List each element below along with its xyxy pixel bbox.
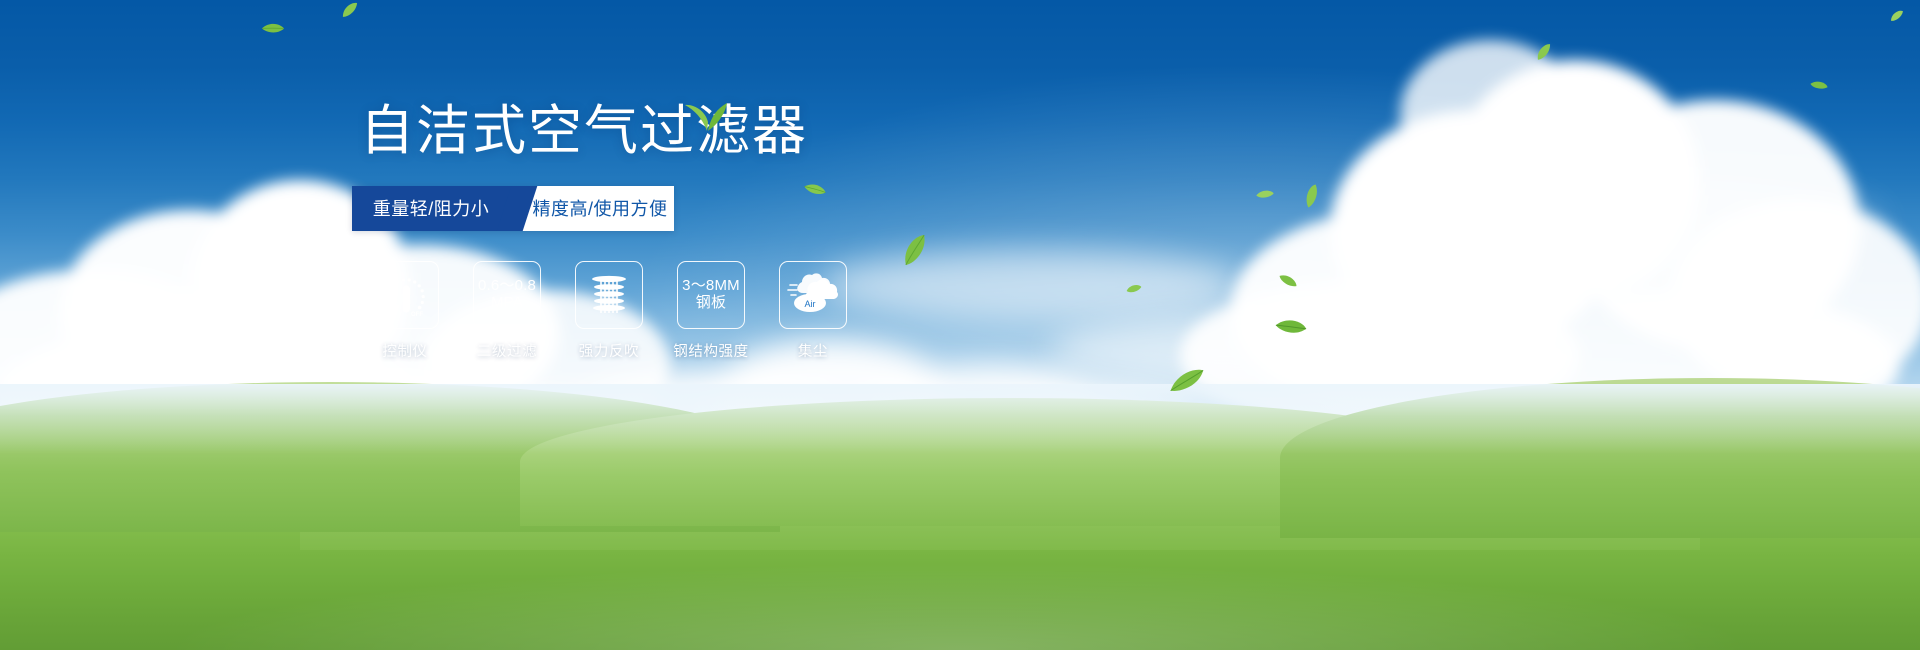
- grass-shading: [0, 530, 1920, 650]
- grass-field: [0, 430, 1920, 650]
- tab-precision[interactable]: 精度高/使用方便: [512, 186, 674, 231]
- feature-item[interactable]: 0.6～0.8 MPA 二级过滤: [456, 261, 558, 361]
- gauge-off-label: OFF: [411, 312, 423, 318]
- feature-item[interactable]: 强力反吹: [558, 261, 660, 361]
- steel-material: 钢板: [682, 295, 740, 312]
- gauge-icon: NO OFF: [377, 269, 433, 321]
- feature-label: 强力反吹: [579, 340, 639, 361]
- feature-icon-box: [575, 261, 643, 329]
- feature-icon-box: 0.6～0.8 MPA: [473, 261, 541, 329]
- horizon-haze: [0, 384, 1920, 454]
- coil-stack-icon: [584, 270, 634, 320]
- feature-label: 二级过滤: [477, 340, 537, 361]
- tab-lightweight[interactable]: 重量轻/阻力小: [352, 186, 512, 231]
- feature-item[interactable]: 3～8MM 钢板 钢结构强度: [660, 261, 762, 361]
- feature-icon-box: 3～8MM 钢板: [677, 261, 745, 329]
- feature-label: 控制仪: [382, 340, 427, 361]
- cloud-bank-right: [1150, 40, 1910, 430]
- page-title-text: 自洁式空气过滤器: [360, 101, 808, 161]
- air-cloud-icon: Air: [786, 272, 840, 318]
- feature-label: 钢结构强度: [673, 340, 749, 361]
- feature-icon-box: NO OFF: [371, 261, 439, 329]
- tab-precision-label: 精度高/使用方便: [532, 195, 667, 221]
- feature-tabs: 重量轻/阻力小 精度高/使用方便: [352, 186, 674, 231]
- steel-plate-text-icon: 3～8MM 钢板: [682, 278, 740, 312]
- title-leaf-icon: [683, 83, 729, 147]
- pressure-unit: MPA: [478, 295, 536, 312]
- gauge-no-label: NO: [383, 295, 393, 302]
- feature-item[interactable]: Air 集尘: [762, 261, 864, 361]
- feature-icon-box: Air: [779, 261, 847, 329]
- pressure-value: 0.6～0.8: [478, 278, 536, 295]
- pressure-text-icon: 0.6～0.8 MPA: [478, 278, 536, 312]
- banner-content: 自洁式空气过滤器 重量轻/阻力小 精度高/使用方便: [350, 100, 910, 361]
- leaf-icon: [1125, 283, 1142, 295]
- steel-thickness: 3～8MM: [682, 278, 740, 295]
- page-title: 自洁式空气过滤器: [350, 100, 910, 164]
- banner-stage: 自洁式空气过滤器 重量轻/阻力小 精度高/使用方便: [0, 0, 1920, 650]
- feature-label: 集尘: [798, 340, 828, 361]
- feature-list: NO OFF 控制仪 0.6～0.8 MPA 二级过滤: [354, 261, 910, 361]
- feature-item[interactable]: NO OFF 控制仪: [354, 261, 456, 361]
- air-label: Air: [805, 299, 816, 309]
- tab-lightweight-label: 重量轻/阻力小: [373, 195, 490, 221]
